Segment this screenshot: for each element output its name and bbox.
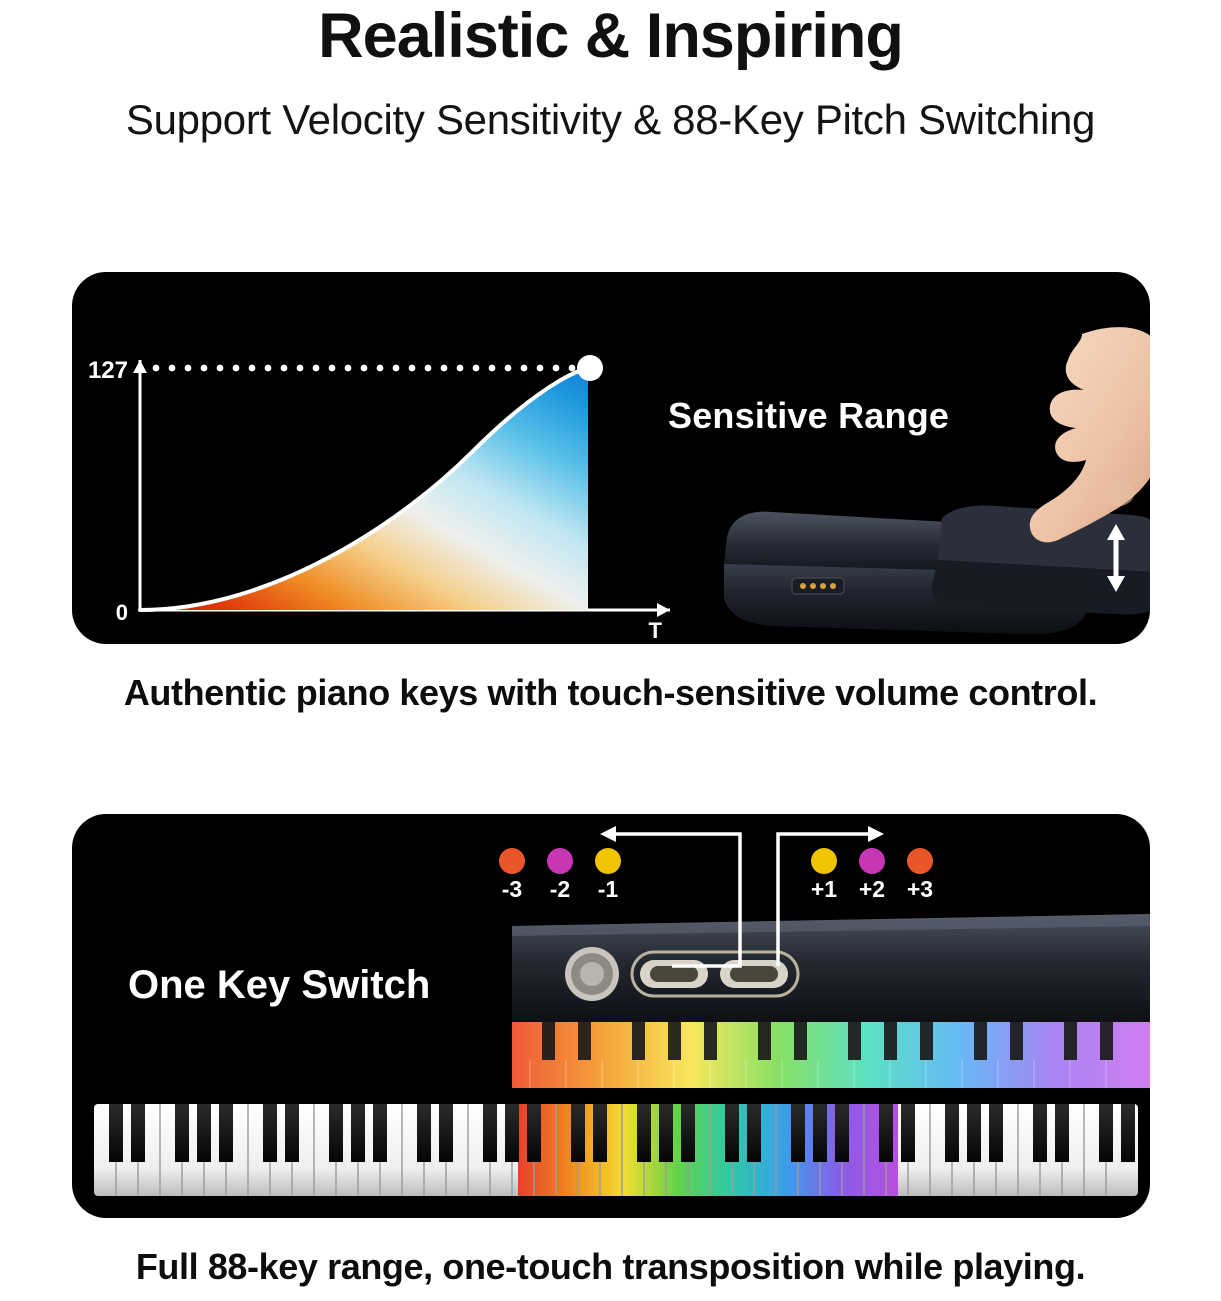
finger-illustration	[1030, 327, 1150, 542]
transpose-indicator: -1	[584, 848, 632, 901]
transpose-dot	[595, 848, 621, 874]
velocity-curve-graphic: 127 0 T	[72, 272, 1150, 644]
transpose-indicator: +2	[848, 848, 896, 901]
transpose-indicator: -3	[488, 848, 536, 901]
transpose-dot	[811, 848, 837, 874]
rear-keyboard-row	[512, 1018, 1150, 1088]
transpose-indicator: -2	[536, 848, 584, 901]
transpose-indicator: +3	[896, 848, 944, 901]
page-subtitle: Support Velocity Sensitivity & 88-Key Pi…	[0, 96, 1221, 144]
caption-sensitivity: Authentic piano keys with touch-sensitiv…	[0, 672, 1221, 714]
transpose-dot	[547, 848, 573, 874]
axis-label-time: T	[649, 618, 663, 643]
page-title: Realistic & Inspiring	[0, 2, 1221, 70]
transpose-indicator: +1	[800, 848, 848, 901]
product-feature-page: Realistic & Inspiring Support Velocity S…	[0, 0, 1221, 1301]
velocity-sensitivity-panel: 127 0 T	[72, 272, 1150, 644]
transpose-up-indicators: +1 +2 +3	[800, 848, 944, 901]
front-keyboard	[94, 1104, 1138, 1196]
axis-label-max: 127	[88, 357, 128, 384]
transpose-dot	[499, 848, 525, 874]
transpose-dot	[907, 848, 933, 874]
sensitive-range-label: Sensitive Range	[668, 395, 949, 437]
control-deck	[512, 914, 1150, 1022]
transpose-down-indicators: -3 -2 -1	[488, 848, 632, 901]
one-key-switch-label: One Key Switch	[128, 963, 430, 1008]
axis-label-min: 0	[116, 600, 128, 625]
caption-keys: Full 88-key range, one-touch transpositi…	[0, 1246, 1221, 1288]
transpose-dot	[859, 848, 885, 874]
